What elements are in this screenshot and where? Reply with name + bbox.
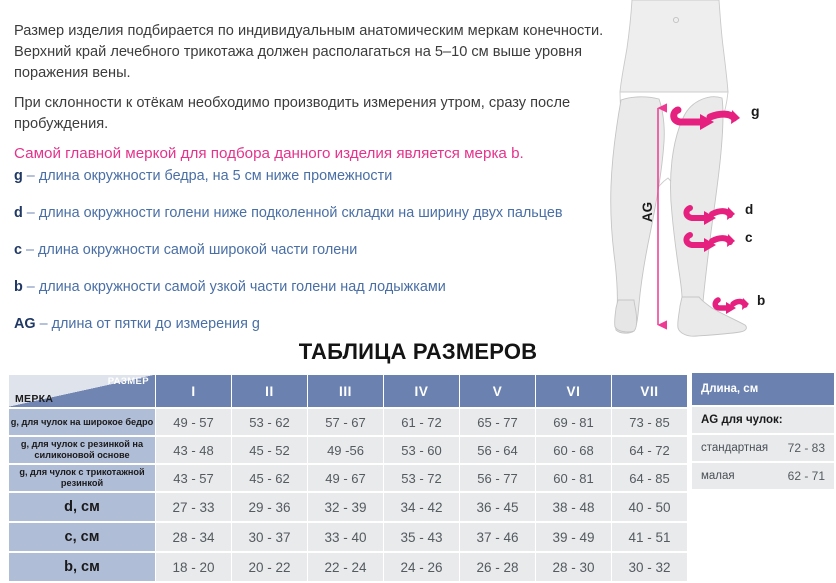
size-column-header-1: I <box>156 375 231 407</box>
table-cell: 56 - 64 <box>460 437 535 463</box>
table-row: g, для чулок с резинкой на силиконовой о… <box>9 437 687 463</box>
measurement-dash-c: – <box>26 242 34 258</box>
table-cell: 18 - 20 <box>156 553 231 581</box>
measurement-key-d: d <box>14 205 23 221</box>
measurement-text-b: длина окружности самой узкой части голен… <box>39 279 446 295</box>
row-label: b, см <box>9 553 155 581</box>
b-arrow-head-tip <box>742 298 749 310</box>
table-cell: 57 - 67 <box>308 409 383 435</box>
table-cell: 73 - 85 <box>612 409 687 435</box>
table-cell: 53 - 60 <box>384 437 459 463</box>
length-panel-title-text: AG для чулок: <box>701 414 825 426</box>
size-column-header-4: IV <box>384 375 459 407</box>
table-cell: 64 - 85 <box>612 465 687 491</box>
table-cell: 30 - 37 <box>232 523 307 551</box>
measurement-dash-g: – <box>27 168 35 184</box>
g-arrow-head-tip <box>731 110 740 124</box>
measurement-key-b: b <box>14 279 23 295</box>
measurement-key-g: g <box>14 168 23 184</box>
page-title: ТАБЛИЦА РАЗМЕРОВ <box>0 339 836 365</box>
table-cell: 27 - 33 <box>156 493 231 521</box>
d-arrow-head-tip <box>727 207 735 220</box>
label-b: b <box>757 293 765 308</box>
table-cell: 28 - 30 <box>536 553 611 581</box>
measurement-dash-ag: – <box>40 316 48 332</box>
table-cell: 60 - 68 <box>536 437 611 463</box>
corner-size-label: РАЗМЕР <box>108 376 149 387</box>
table-cell: 39 - 49 <box>536 523 611 551</box>
row-label: g, для чулок с резинкой на силиконовой о… <box>9 437 155 463</box>
size-column-header-2: II <box>232 375 307 407</box>
row-label: g, для чулок на широкое бедро <box>9 409 155 435</box>
table-cell: 64 - 72 <box>612 437 687 463</box>
label-d: d <box>745 202 753 217</box>
length-option-value: 72 - 83 <box>788 441 825 455</box>
length-panel-row: малая 62 - 71 <box>692 463 834 489</box>
table-cell: 53 - 72 <box>384 465 459 491</box>
table-cell: 53 - 62 <box>232 409 307 435</box>
table-cell: 35 - 43 <box>384 523 459 551</box>
table-cell: 37 - 46 <box>460 523 535 551</box>
table-cell: 45 - 62 <box>232 465 307 491</box>
table-row: b, см 18 - 20 20 - 22 22 - 24 24 - 26 26… <box>9 553 687 581</box>
table-cell: 49 - 67 <box>308 465 383 491</box>
measurement-text-g: длина окружности бедра, на 5 см ниже про… <box>39 168 392 184</box>
intro-paragraph-2: При склонности к отёкам необходимо произ… <box>14 93 604 135</box>
table-cell: 29 - 36 <box>232 493 307 521</box>
measurement-legend-b: b – длина окружности самой узкой части г… <box>14 277 614 297</box>
table-cell: 43 - 57 <box>156 465 231 491</box>
highlight-note: Самой главной меркой для подбора данного… <box>14 143 604 165</box>
table-cell: 49 -56 <box>308 437 383 463</box>
size-table: РАЗМЕР МЕРКА I II III IV V VI VII g, для… <box>8 373 688 583</box>
size-table-grid: РАЗМЕР МЕРКА I II III IV V VI VII g, для… <box>8 373 688 583</box>
length-panel: Длина, см AG для чулок: стандартная 72 -… <box>692 373 834 489</box>
measurement-legend-c: c – длина окружности самой широкой части… <box>14 240 614 260</box>
measurement-legend-g: g – длина окружности бедра, на 5 см ниже… <box>14 166 614 186</box>
table-cell: 65 - 77 <box>460 409 535 435</box>
table-cell: 69 - 81 <box>536 409 611 435</box>
length-option-value: 62 - 71 <box>788 469 825 483</box>
table-row: c, см 28 - 34 30 - 37 33 - 40 35 - 43 37… <box>9 523 687 551</box>
measurement-key-c: c <box>14 242 22 258</box>
table-cell: 33 - 40 <box>308 523 383 551</box>
table-cell: 61 - 72 <box>384 409 459 435</box>
length-option-name: стандартная <box>701 442 788 454</box>
measurement-text-ag: длина от пятки до измерения g <box>52 316 260 332</box>
table-row: g, для чулок с трикотажной резинкой 43 -… <box>9 465 687 491</box>
table-cell: 45 - 52 <box>232 437 307 463</box>
table-cell: 36 - 45 <box>460 493 535 521</box>
table-cell: 22 - 24 <box>308 553 383 581</box>
leg-measurement-illustration: AG g d c b <box>600 0 836 345</box>
table-cell: 41 - 51 <box>612 523 687 551</box>
table-cell: 60 - 81 <box>536 465 611 491</box>
instructions-panel: Размер изделия подбирается по индивидуал… <box>0 0 612 330</box>
table-cell: 28 - 34 <box>156 523 231 551</box>
table-cell: 56 - 77 <box>460 465 535 491</box>
measurement-legend-ag: AG – длина от пятки до измерения g <box>14 314 614 334</box>
row-label: d, см <box>9 493 155 521</box>
table-cell: 34 - 42 <box>384 493 459 521</box>
size-column-header-3: III <box>308 375 383 407</box>
length-panel-header: Длина, см <box>692 373 834 405</box>
measurement-dash-d: – <box>27 205 35 221</box>
length-panel-title-row: AG для чулок: <box>692 407 834 433</box>
row-label: g, для чулок с трикотажной резинкой <box>9 465 155 491</box>
table-header-row: РАЗМЕР МЕРКА I II III IV V VI VII <box>9 375 687 407</box>
measurement-text-d: длина окружности голени ниже подколенной… <box>39 205 563 221</box>
measurement-text-c: длина окружности самой широкой части гол… <box>38 242 357 258</box>
size-column-header-7: VII <box>612 375 687 407</box>
measurement-dash-b: – <box>27 279 35 295</box>
table-cell: 49 - 57 <box>156 409 231 435</box>
size-column-header-5: V <box>460 375 535 407</box>
table-cell: 38 - 48 <box>536 493 611 521</box>
intro-paragraph-1: Размер изделия подбирается по индивидуал… <box>14 21 604 84</box>
c-arrow-head-tip <box>727 234 735 247</box>
table-cell: 30 - 32 <box>612 553 687 581</box>
measurement-legend-d: d – длина окружности голени ниже подколе… <box>14 203 614 223</box>
table-cell: 20 - 22 <box>232 553 307 581</box>
table-cell: 40 - 50 <box>612 493 687 521</box>
female-body-silhouette <box>611 0 747 336</box>
table-corner-header: РАЗМЕР МЕРКА <box>9 375 155 407</box>
size-column-header-6: VI <box>536 375 611 407</box>
table-cell: 26 - 28 <box>460 553 535 581</box>
measurement-key-ag: AG <box>14 316 36 332</box>
table-row: d, см 27 - 33 29 - 36 32 - 39 34 - 42 36… <box>9 493 687 521</box>
table-cell: 43 - 48 <box>156 437 231 463</box>
row-label: c, см <box>9 523 155 551</box>
table-cell: 24 - 26 <box>384 553 459 581</box>
ag-label: AG <box>640 202 655 222</box>
label-g: g <box>751 103 760 119</box>
length-option-name: малая <box>701 470 788 482</box>
table-cell: 32 - 39 <box>308 493 383 521</box>
length-panel-row: стандартная 72 - 83 <box>692 435 834 461</box>
corner-merka-label: МЕРКА <box>15 393 53 405</box>
table-row: g, для чулок на широкое бедро 49 - 57 53… <box>9 409 687 435</box>
label-c: c <box>745 230 753 245</box>
